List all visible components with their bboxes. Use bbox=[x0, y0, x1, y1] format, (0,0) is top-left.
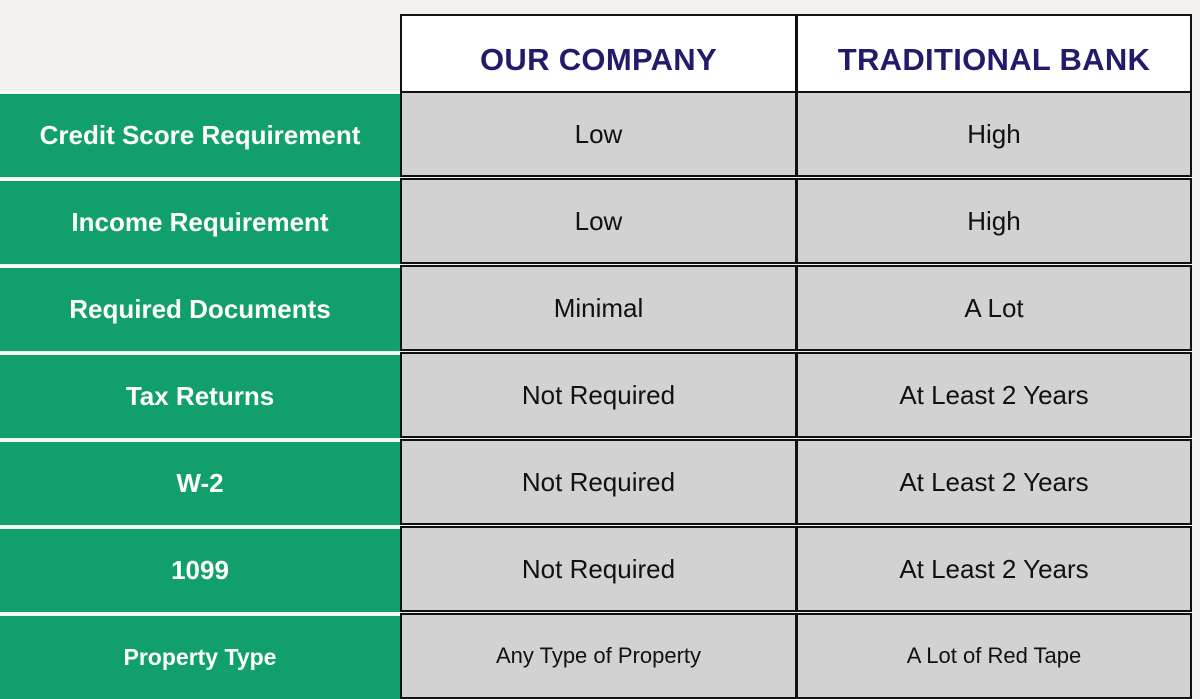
row-label-tax-returns: Tax Returns bbox=[0, 352, 400, 438]
cell-our-company-required-documents: Minimal bbox=[400, 265, 797, 351]
row-label-w-2: W-2 bbox=[0, 439, 400, 525]
row-label-credit-score-requirement: Credit Score Requirement bbox=[0, 91, 400, 177]
cell-traditional-bank-1099: At Least 2 Years bbox=[797, 526, 1192, 612]
cell-our-company-w-2: Not Required bbox=[400, 439, 797, 525]
table-row: W-2 Not Required At Least 2 Years bbox=[0, 439, 1200, 525]
table-row: Tax Returns Not Required At Least 2 Year… bbox=[0, 352, 1200, 438]
table-row: Property Type Any Type of Property A Lot… bbox=[0, 613, 1200, 699]
cell-traditional-bank-income-requirement: High bbox=[797, 178, 1192, 264]
row-label-income-requirement: Income Requirement bbox=[0, 178, 400, 264]
row-label-required-documents: Required Documents bbox=[0, 265, 400, 351]
comparison-table: OUR COMPANY TRADITIONAL BANK Credit Scor… bbox=[0, 0, 1200, 698]
cell-our-company-income-requirement: Low bbox=[400, 178, 797, 264]
row-label-property-type: Property Type bbox=[0, 613, 400, 699]
cell-traditional-bank-w-2: At Least 2 Years bbox=[797, 439, 1192, 525]
table-row: 1099 Not Required At Least 2 Years bbox=[0, 526, 1200, 612]
table-row: Required Documents Minimal A Lot bbox=[0, 265, 1200, 351]
cell-our-company-1099: Not Required bbox=[400, 526, 797, 612]
table-header-row: OUR COMPANY TRADITIONAL BANK bbox=[0, 0, 1200, 91]
header-corner-cell bbox=[0, 14, 400, 91]
cell-traditional-bank-property-type: A Lot of Red Tape bbox=[797, 613, 1192, 699]
cell-our-company-tax-returns: Not Required bbox=[400, 352, 797, 438]
cell-our-company-credit-score-requirement: Low bbox=[400, 91, 797, 177]
cell-traditional-bank-required-documents: A Lot bbox=[797, 265, 1192, 351]
cell-traditional-bank-tax-returns: At Least 2 Years bbox=[797, 352, 1192, 438]
row-label-1099: 1099 bbox=[0, 526, 400, 612]
cell-traditional-bank-credit-score-requirement: High bbox=[797, 91, 1192, 177]
table-row: Credit Score Requirement Low High bbox=[0, 91, 1200, 177]
cell-our-company-property-type: Any Type of Property bbox=[400, 613, 797, 699]
table-row: Income Requirement Low High bbox=[0, 178, 1200, 264]
